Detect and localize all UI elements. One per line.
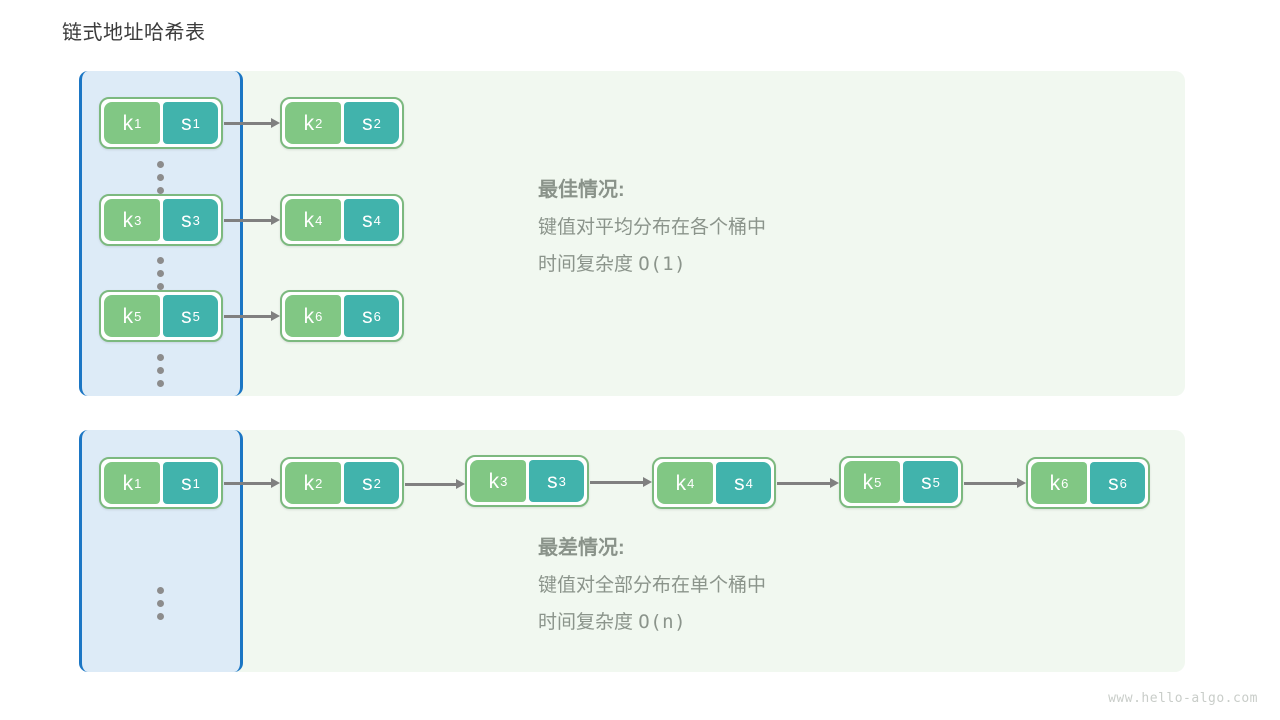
value-cell: s5 <box>903 461 958 503</box>
chain-node[interactable]: k2 s2 <box>280 97 404 149</box>
value-cell: s6 <box>344 295 399 337</box>
key-cell: k4 <box>285 199 341 241</box>
chain-arrow <box>224 118 280 128</box>
value-subscript: 2 <box>374 117 381 130</box>
value-label: s <box>734 473 745 494</box>
value-subscript: 1 <box>193 477 200 490</box>
key-subscript: 2 <box>315 117 322 130</box>
bucket-head-node[interactable]: k1 s1 <box>99 97 223 149</box>
key-label: k <box>676 473 687 494</box>
key-label: k <box>489 471 500 492</box>
value-cell: s1 <box>163 102 218 144</box>
value-label: s <box>1108 473 1119 494</box>
chain-node[interactable]: k6 s6 <box>1026 457 1150 509</box>
worst-case-line-1: 键值对全部分布在单个桶中 <box>538 576 766 595</box>
value-label: s <box>181 210 192 231</box>
best-case-heading: 最佳情况: <box>538 180 766 200</box>
value-cell: s3 <box>163 199 218 241</box>
chain-node[interactable]: k4 s4 <box>280 194 404 246</box>
key-subscript: 6 <box>1061 477 1068 490</box>
key-subscript: 1 <box>134 117 141 130</box>
worst-case-complexity-value: O(n) <box>638 611 686 633</box>
key-cell: k1 <box>104 462 160 504</box>
key-label: k <box>304 113 315 134</box>
best-case-complexity-value: O(1) <box>638 253 686 275</box>
key-cell: k6 <box>1031 462 1087 504</box>
best-case-complexity-label: 时间复杂度 <box>538 254 633 275</box>
chain-node[interactable]: k4 s4 <box>652 457 776 509</box>
chain-arrow <box>224 478 280 488</box>
chain-arrow <box>224 311 280 321</box>
value-cell: s6 <box>1090 462 1145 504</box>
bucket-ellipsis <box>157 257 165 290</box>
value-label: s <box>181 473 192 494</box>
value-cell: s2 <box>344 462 399 504</box>
key-label: k <box>123 306 134 327</box>
chain-node[interactable]: k6 s6 <box>280 290 404 342</box>
value-subscript: 6 <box>374 310 381 323</box>
chain-arrow <box>224 215 280 225</box>
key-label: k <box>304 210 315 231</box>
value-cell: s4 <box>344 199 399 241</box>
chain-node[interactable]: k1 s1 <box>99 457 223 509</box>
chain-node[interactable]: k5 s5 <box>839 456 963 508</box>
key-cell: k2 <box>285 102 341 144</box>
value-subscript: 5 <box>933 476 940 489</box>
watermark: www.hello-algo.com <box>1108 691 1258 706</box>
value-cell: s2 <box>344 102 399 144</box>
value-cell: s1 <box>163 462 218 504</box>
worst-case-caption: 最差情况: 键值对全部分布在单个桶中 时间复杂度 O(n) <box>538 538 766 632</box>
best-case-line-1: 键值对平均分布在各个桶中 <box>538 218 766 237</box>
key-label: k <box>1050 473 1061 494</box>
value-label: s <box>362 113 373 134</box>
key-cell: k3 <box>470 460 526 502</box>
value-subscript: 4 <box>746 477 753 490</box>
key-subscript: 6 <box>315 310 322 323</box>
worst-case-complexity-label: 时间复杂度 <box>538 612 633 633</box>
key-label: k <box>863 472 874 493</box>
bucket-ellipsis <box>157 587 165 620</box>
bucket-head-node[interactable]: k3 s3 <box>99 194 223 246</box>
value-subscript: 4 <box>374 214 381 227</box>
bucket-ellipsis <box>157 354 165 387</box>
key-subscript: 2 <box>315 477 322 490</box>
bucket-ellipsis <box>157 161 165 194</box>
value-subscript: 1 <box>193 117 200 130</box>
worst-case-line-2: 时间复杂度 O(n) <box>538 613 766 632</box>
value-label: s <box>181 113 192 134</box>
key-label: k <box>123 113 134 134</box>
value-subscript: 3 <box>193 214 200 227</box>
best-case-line-2: 时间复杂度 O(1) <box>538 255 766 274</box>
key-subscript: 4 <box>687 477 694 490</box>
value-label: s <box>181 306 192 327</box>
value-label: s <box>547 471 558 492</box>
key-subscript: 5 <box>874 476 881 489</box>
chain-arrow <box>964 478 1026 488</box>
best-case-caption: 最佳情况: 键值对平均分布在各个桶中 时间复杂度 O(1) <box>538 180 766 274</box>
key-subscript: 1 <box>134 477 141 490</box>
key-label: k <box>123 473 134 494</box>
key-subscript: 3 <box>134 214 141 227</box>
diagram-canvas: 链式地址哈希表 k1 s1 k2 s2 k3 s3 <box>0 0 1280 720</box>
value-label: s <box>362 306 373 327</box>
key-label: k <box>304 473 315 494</box>
key-cell: k5 <box>844 461 900 503</box>
key-cell: k4 <box>657 462 713 504</box>
page-title: 链式地址哈希表 <box>62 16 206 45</box>
chain-arrow <box>590 477 652 487</box>
value-cell: s4 <box>716 462 771 504</box>
value-cell: s3 <box>529 460 584 502</box>
key-cell: k3 <box>104 199 160 241</box>
chain-arrow <box>777 478 839 488</box>
value-subscript: 5 <box>193 310 200 323</box>
value-label: s <box>362 210 373 231</box>
chain-arrow <box>405 479 465 489</box>
value-label: s <box>362 473 373 494</box>
key-cell: k2 <box>285 462 341 504</box>
chain-node[interactable]: k3 s3 <box>465 455 589 507</box>
value-subscript: 6 <box>1120 477 1127 490</box>
key-cell: k6 <box>285 295 341 337</box>
chain-node[interactable]: k2 s2 <box>280 457 404 509</box>
value-subscript: 3 <box>559 475 566 488</box>
worst-case-heading: 最差情况: <box>538 538 766 558</box>
key-subscript: 3 <box>500 475 507 488</box>
key-label: k <box>304 306 315 327</box>
key-cell: k1 <box>104 102 160 144</box>
bucket-head-node[interactable]: k5 s5 <box>99 290 223 342</box>
value-subscript: 2 <box>374 477 381 490</box>
key-subscript: 4 <box>315 214 322 227</box>
value-label: s <box>921 472 932 493</box>
value-cell: s5 <box>163 295 218 337</box>
key-cell: k5 <box>104 295 160 337</box>
key-label: k <box>123 210 134 231</box>
key-subscript: 5 <box>134 310 141 323</box>
